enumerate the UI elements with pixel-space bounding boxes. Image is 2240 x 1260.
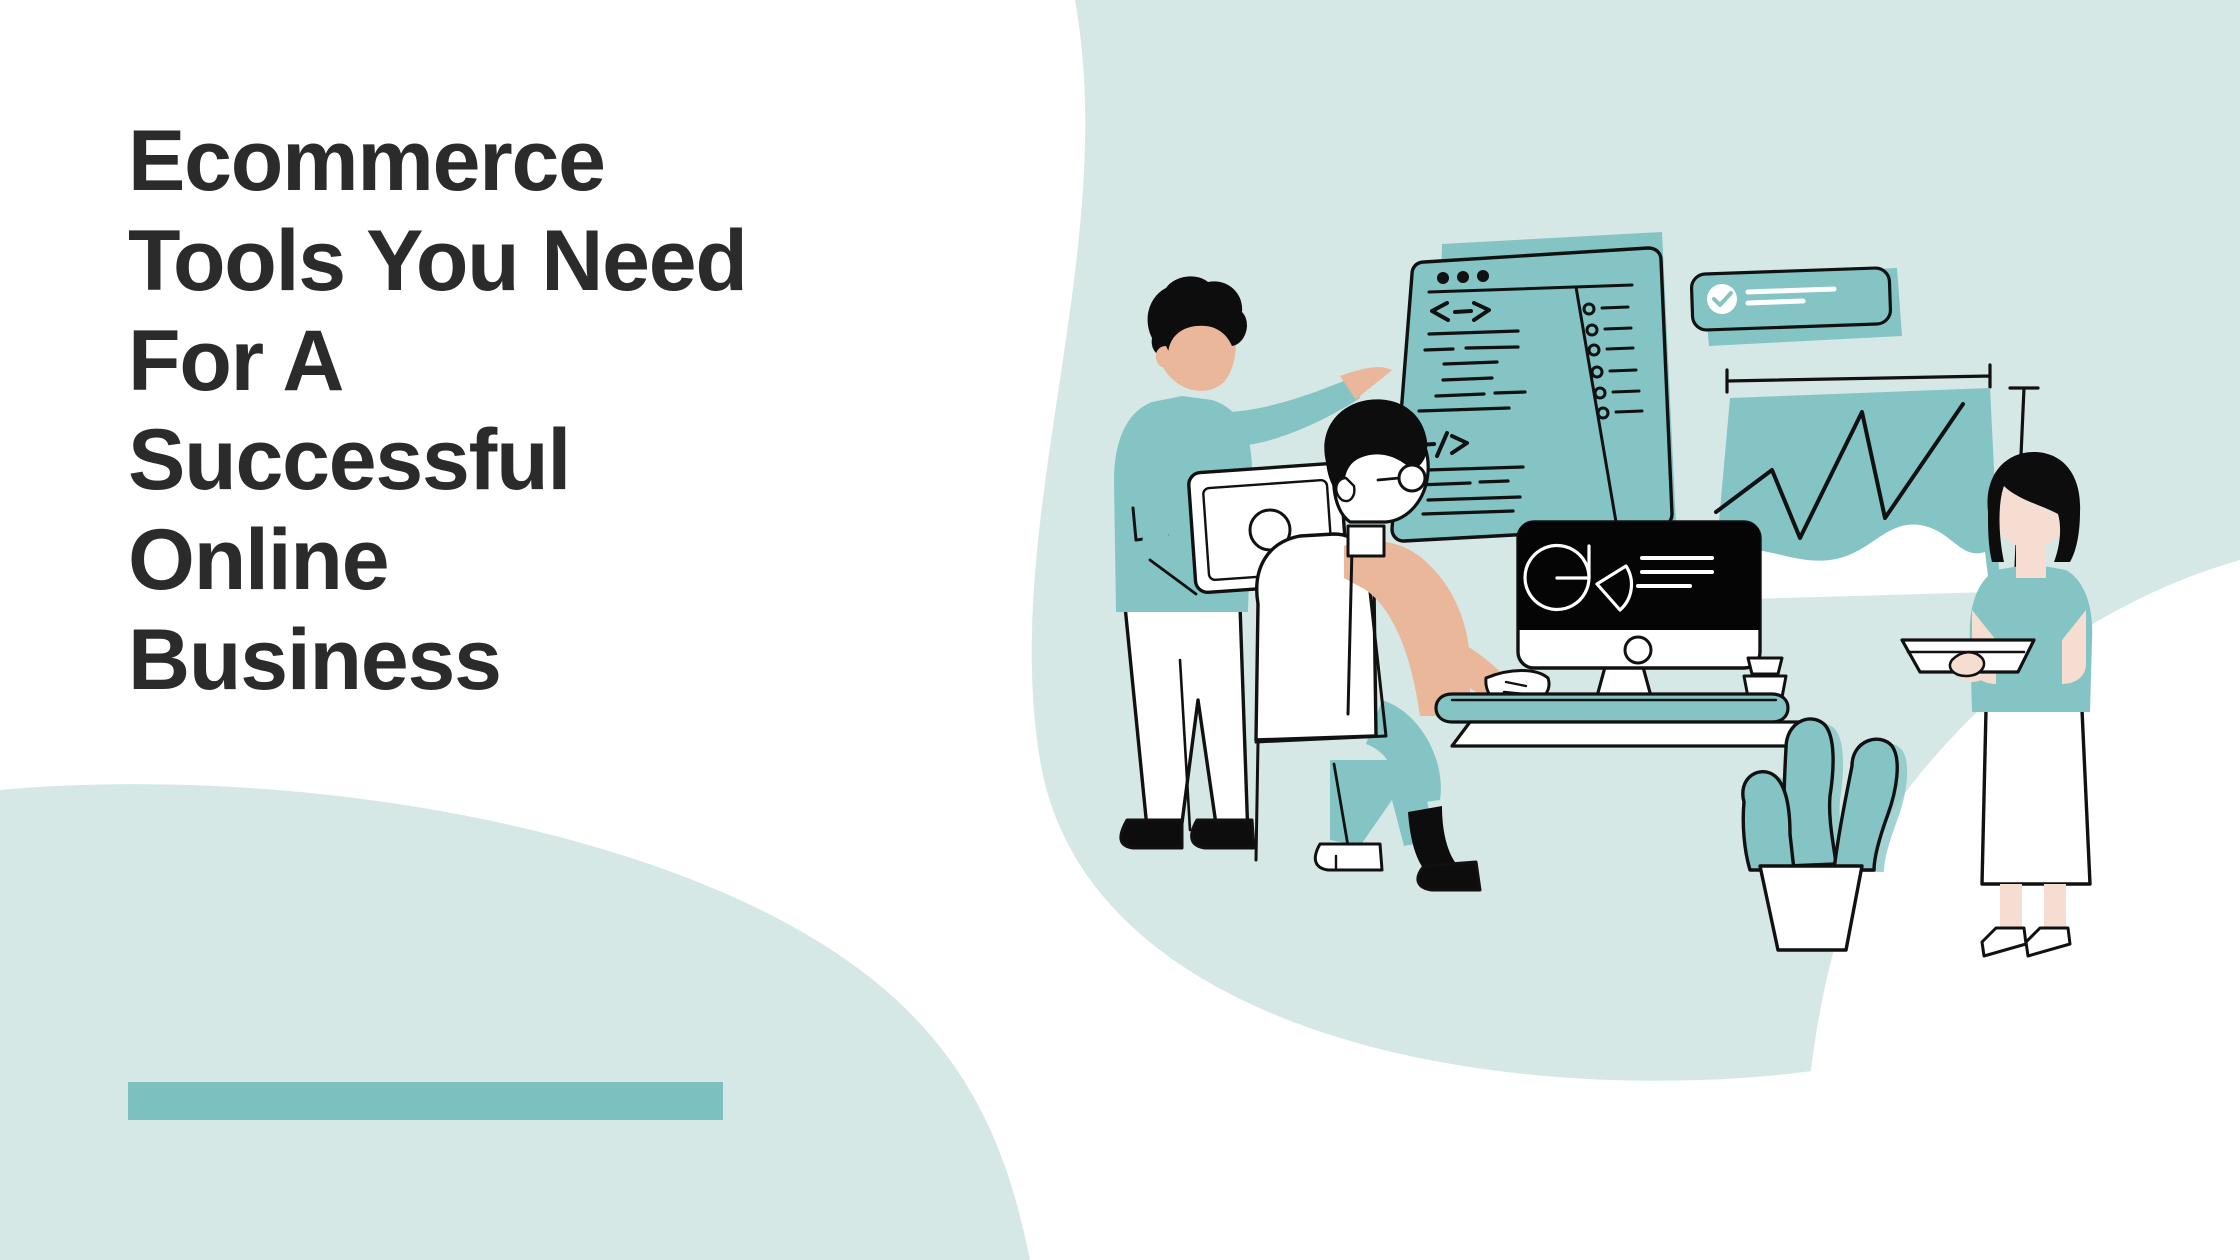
keyboard bbox=[1436, 694, 1788, 722]
desktop-monitor bbox=[1518, 522, 1760, 700]
serving-tray bbox=[1902, 640, 2034, 676]
cactus-plant bbox=[1743, 719, 1907, 950]
banner-canvas: Ecommerce Tools You Need For A Successfu… bbox=[0, 0, 2240, 1260]
accent-underline-bar bbox=[128, 1082, 723, 1120]
page-title: Ecommerce Tools You Need For A Successfu… bbox=[128, 112, 748, 711]
notification-card bbox=[1691, 268, 1902, 346]
plant-pot bbox=[1760, 866, 1862, 950]
check-icon bbox=[1707, 284, 1737, 314]
long-skirt bbox=[1982, 710, 2090, 884]
headline-block: Ecommerce Tools You Need For A Successfu… bbox=[128, 112, 748, 711]
desk-surface bbox=[1452, 722, 1800, 746]
monitor-screen bbox=[1518, 522, 1760, 630]
code-window-screen bbox=[1392, 232, 1676, 541]
